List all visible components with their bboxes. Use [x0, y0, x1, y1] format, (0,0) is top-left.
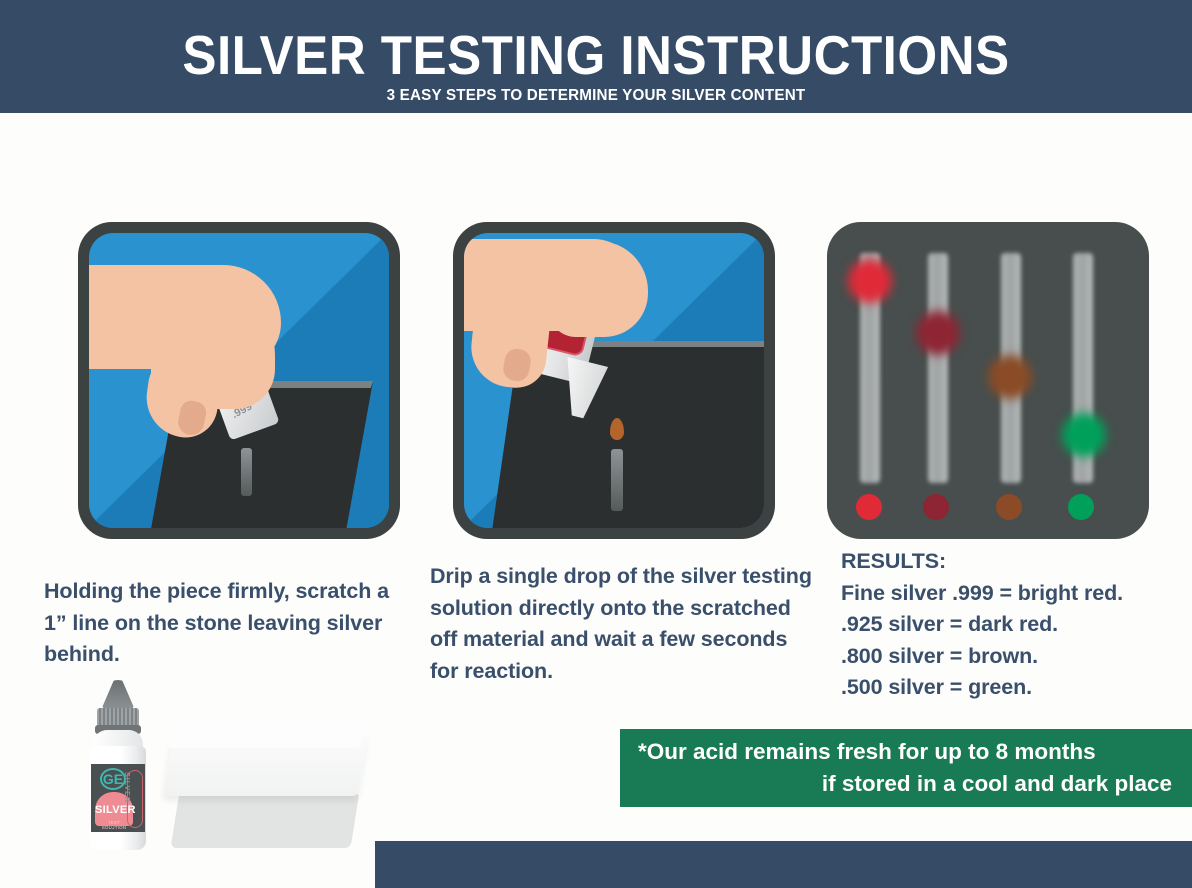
legend-dot-dark-red — [923, 494, 949, 520]
step-2-caption: Drip a single drop of the silver testing… — [430, 561, 820, 687]
step-3-results-illustration — [827, 222, 1149, 539]
page-title: SILVER TESTING INSTRUCTIONS — [42, 25, 1151, 85]
reaction-blot-dark-red — [916, 311, 960, 355]
label-side-text: SILVER — [123, 772, 130, 803]
scratch-mark — [241, 448, 252, 496]
silver-streak-2 — [928, 253, 948, 483]
freshness-banner-line-2: if stored in a cool and dark place — [638, 768, 1172, 800]
scratch-mark — [611, 449, 623, 511]
reaction-blot-brown — [988, 355, 1032, 399]
step-1-caption: Holding the piece firmly, scratch a 1” l… — [44, 576, 414, 671]
bottle-label: GE SILVER TEST SOLUTION SILVER — [91, 764, 145, 832]
page-header: SILVER TESTING INSTRUCTIONS 3 EASY STEPS… — [0, 0, 1192, 113]
results-heading: RESULTS: — [841, 546, 1171, 578]
acid-drop — [610, 418, 624, 440]
polishing-pad-bottom — [171, 792, 360, 848]
results-line-1: Fine silver .999 = bright red. — [841, 578, 1171, 610]
polishing-pad-top-face — [166, 722, 365, 748]
infographic-page: SILVER TESTING INSTRUCTIONS 3 EASY STEPS… — [0, 0, 1192, 888]
results-line-2: .925 silver = dark red. — [841, 609, 1171, 641]
page-subtitle: 3 EASY STEPS TO DETERMINE YOUR SILVER CO… — [30, 87, 1162, 105]
product-photo: GE SILVER TEST SOLUTION SILVER — [75, 672, 395, 872]
freshness-banner-line-1: *Our acid remains fresh for up to 8 mont… — [638, 736, 1172, 768]
reaction-blot-green — [1062, 413, 1106, 457]
results-line-3: .800 silver = brown. — [841, 641, 1171, 673]
step-1-illustration: .999 — [78, 222, 400, 539]
hand-fingers — [548, 241, 648, 337]
footer-bar — [375, 841, 1192, 888]
legend-dot-brown — [996, 494, 1022, 520]
reaction-blot-bright-red — [848, 259, 892, 303]
freshness-banner: *Our acid remains fresh for up to 8 mont… — [620, 729, 1192, 807]
legend-dot-green — [1068, 494, 1094, 520]
results-block: RESULTS: Fine silver .999 = bright red. … — [841, 546, 1171, 704]
step-2-illustration: SILVER — [453, 222, 775, 539]
bottle-nozzle — [101, 680, 135, 710]
results-line-4: .500 silver = green. — [841, 672, 1171, 704]
legend-dot-bright-red — [856, 494, 882, 520]
